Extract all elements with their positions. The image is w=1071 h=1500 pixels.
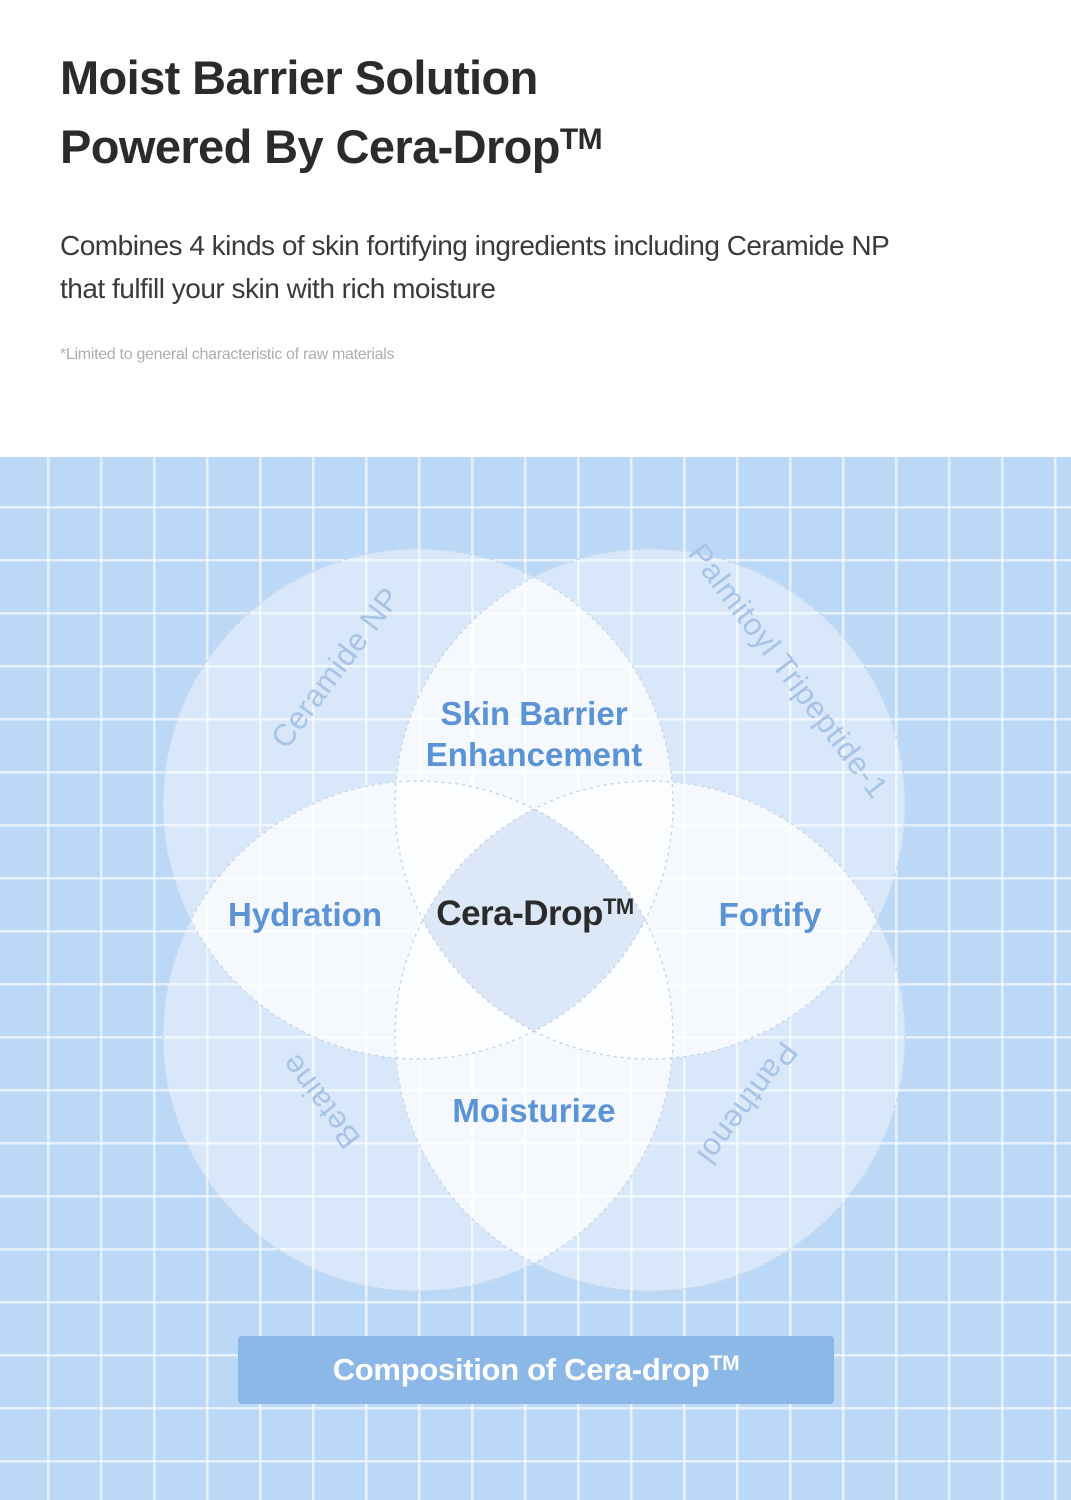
composition-caption-text: Composition of Cera-dropTM xyxy=(333,1352,740,1388)
header-section: Moist Barrier Solution Powered By Cera-D… xyxy=(0,0,1071,457)
venn-diagram-panel: Skin Barrier Enhancement Hydration Cera-… xyxy=(0,457,1071,1500)
product-detail-page: Moist Barrier Solution Powered By Cera-D… xyxy=(0,0,1071,1500)
trademark-symbol: TM xyxy=(710,1352,740,1375)
page-subtitle: Combines 4 kinds of skin fortifying ingr… xyxy=(60,225,1011,310)
composition-caption-bar: Composition of Cera-dropTM xyxy=(238,1336,834,1404)
ingredient-label-betaine: Betaine xyxy=(240,1002,401,1199)
benefit-label-fortify: Fortify xyxy=(610,895,930,935)
composition-caption-label: Composition of Cera-drop xyxy=(333,1352,710,1387)
page-title-text: Moist Barrier Solution Powered By Cera-D… xyxy=(60,51,560,173)
ingredient-label-panthenol: Panthenol xyxy=(657,992,836,1213)
page-title: Moist Barrier Solution Powered By Cera-D… xyxy=(60,44,1011,181)
page-footnote: *Limited to general characteristic of ra… xyxy=(60,346,1011,364)
benefit-label-moisturize: Moisturize xyxy=(384,1091,684,1131)
cera-drop-text: Cera-Drop xyxy=(436,894,603,933)
trademark-symbol: TM xyxy=(560,123,602,156)
benefit-label-skin-barrier-enhancement: Skin Barrier Enhancement xyxy=(334,693,734,776)
